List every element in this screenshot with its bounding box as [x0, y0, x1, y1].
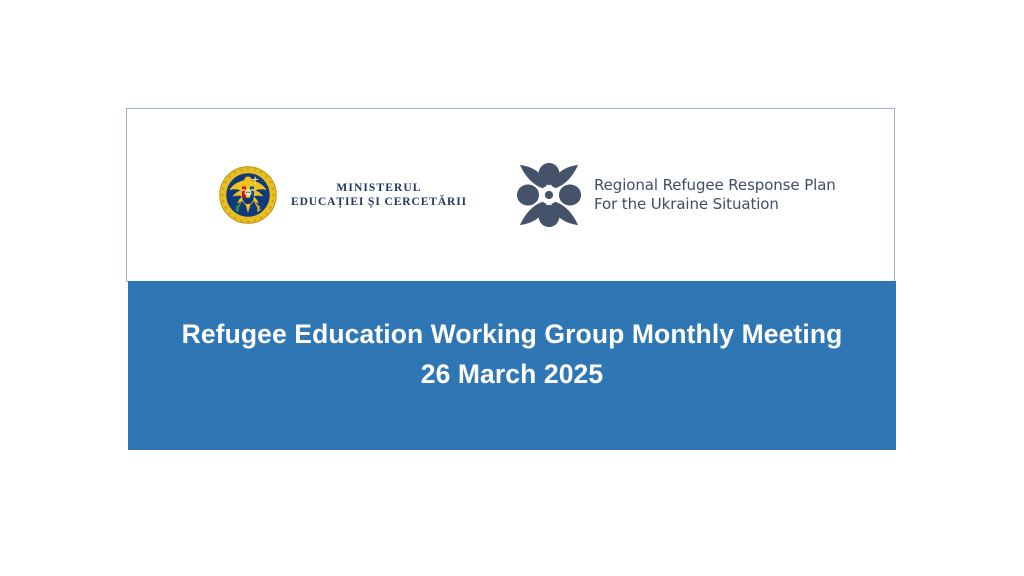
- logo-row: MINISTERUL EDUCAȚIEI ȘI CERCETĂRII: [127, 109, 894, 281]
- meeting-title: Refugee Education Working Group Monthly …: [128, 315, 896, 355]
- moldova-coat-of-arms-seal-icon: [219, 166, 277, 224]
- title-banner: Refugee Education Working Group Monthly …: [128, 281, 896, 450]
- presentation-slide: MINISTERUL EDUCAȚIEI ȘI CERCETĂRII: [0, 0, 1024, 576]
- rrrp-line-1: Regional Refugee Response Plan: [594, 176, 836, 196]
- rrrp-name-text: Regional Refugee Response Plan For the U…: [594, 176, 836, 215]
- title-banner-text: Refugee Education Working Group Monthly …: [128, 315, 896, 395]
- rrrp-line-2: For the Ukraine Situation: [594, 195, 836, 215]
- rrrp-logo: Regional Refugee Response Plan For the U…: [513, 159, 836, 231]
- ministry-line-2: EDUCAȚIEI ȘI CERCETĂRII: [291, 195, 467, 209]
- rrrp-x-star-mark-icon: [513, 159, 585, 231]
- logo-panel: MINISTERUL EDUCAȚIEI ȘI CERCETĂRII: [126, 108, 895, 282]
- ministry-of-education-logo: MINISTERUL EDUCAȚIEI ȘI CERCETĂRII: [219, 166, 467, 224]
- meeting-date: 26 March 2025: [128, 355, 896, 395]
- ministry-name-text: MINISTERUL EDUCAȚIEI ȘI CERCETĂRII: [291, 181, 467, 209]
- ministry-line-1: MINISTERUL: [336, 181, 421, 195]
